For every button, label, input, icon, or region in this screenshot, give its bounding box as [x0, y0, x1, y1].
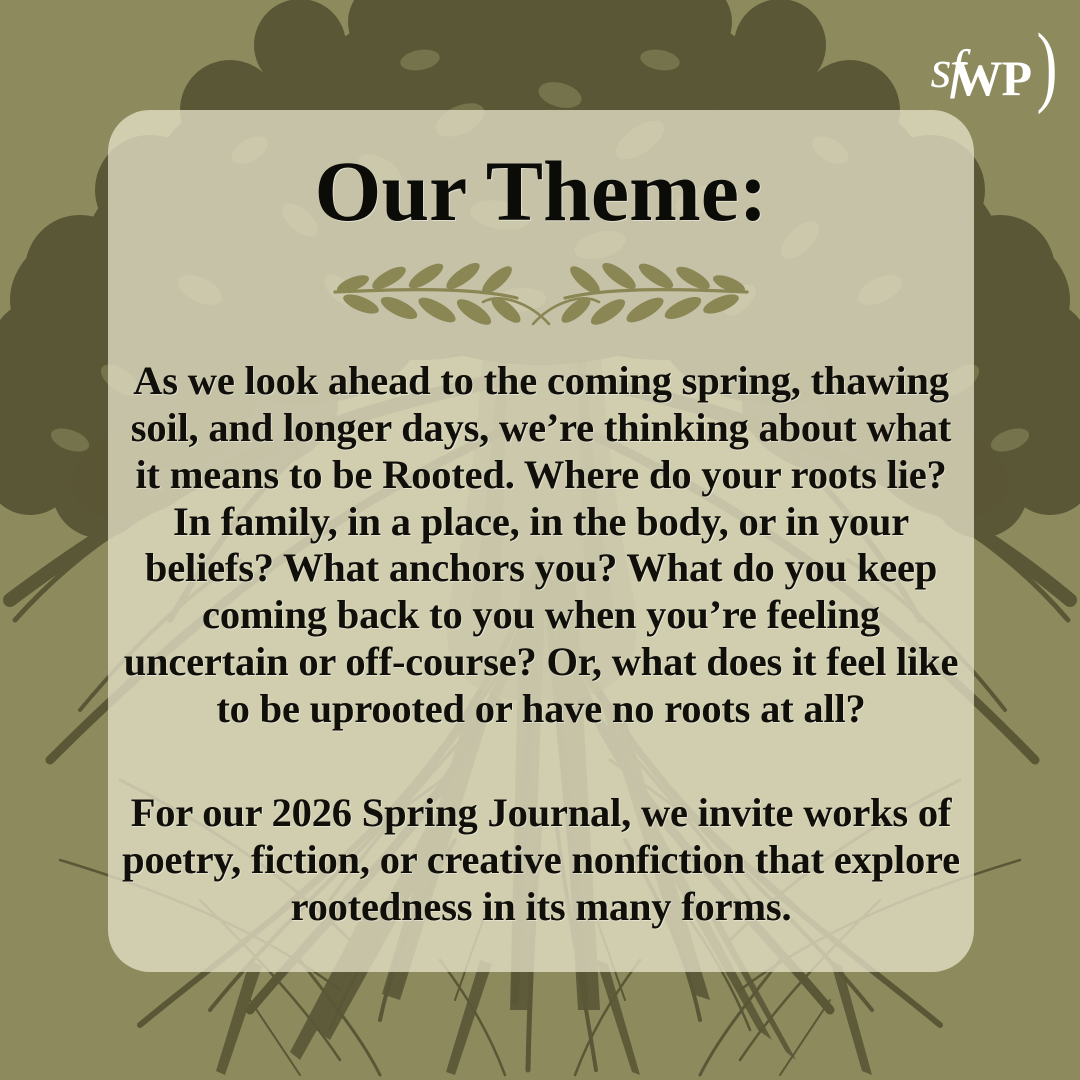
social-post-canvas: sf WP ) Our Theme: — [0, 0, 1080, 1080]
theme-paragraph-2: For our 2026 Spring Journal, we invite w… — [121, 790, 961, 930]
sfwp-logo[interactable]: sf WP ) — [930, 22, 1062, 102]
laurel-branch-divider — [331, 258, 751, 332]
logo-paren-glyph: ) — [1037, 21, 1058, 111]
logo-wp-text: WP — [952, 53, 1031, 103]
page-title: Our Theme: — [314, 146, 767, 236]
theme-paragraph-1: As we look ahead to the coming spring, t… — [121, 358, 961, 732]
theme-card: Our Theme: — [108, 110, 974, 972]
